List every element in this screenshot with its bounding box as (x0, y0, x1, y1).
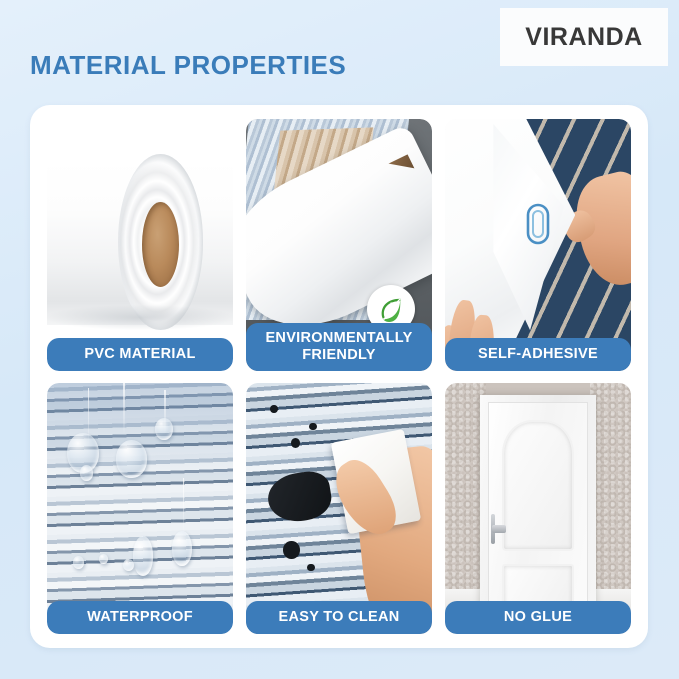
feature-card-self-adhesive[interactable]: SELF-ADHESIVE (445, 119, 631, 371)
water-streak (123, 383, 125, 433)
brand-logo: VIRANDA (500, 8, 668, 66)
water-drop (172, 531, 192, 566)
roll-cut-tip (388, 154, 415, 178)
water-streak (183, 478, 185, 533)
stain-spot (283, 541, 300, 559)
features-grid: PVC MATERIAL (47, 119, 631, 634)
door-panel-top (502, 420, 574, 551)
feature-card-easy-to-clean[interactable]: EASY TO CLEAN (246, 383, 432, 635)
page-title: MATERIAL PROPERTIES (30, 50, 346, 81)
roll-shadow (47, 305, 233, 330)
feature-card-environmentally-friendly[interactable]: ENVIRONMENTALLY FRIENDLY (246, 119, 432, 371)
brand-name: VIRANDA (525, 23, 642, 52)
self-adhesive-photo (445, 119, 631, 371)
water-drop (133, 536, 153, 576)
feature-card-pvc-material[interactable]: PVC MATERIAL (47, 119, 233, 371)
card-label-self-adhesive: SELF-ADHESIVE (445, 338, 631, 371)
features-panel: PVC MATERIAL (30, 105, 648, 648)
feature-card-waterproof[interactable]: WATERPROOF (47, 383, 233, 635)
pvc-roll-photo (47, 119, 233, 371)
stain-spot (307, 564, 314, 572)
easy-to-clean-photo (246, 383, 432, 635)
door-leaf (488, 402, 587, 622)
stain-spot (270, 405, 277, 413)
no-glue-photo (445, 383, 631, 635)
stain-spot (309, 423, 316, 431)
stain-spot (291, 438, 300, 448)
right-wall (590, 383, 631, 604)
paperclip-icon (525, 202, 551, 246)
water-drop (73, 556, 84, 569)
paperclip-badge (525, 202, 551, 251)
card-label-pvc-material: PVC MATERIAL (47, 338, 233, 371)
card-label-no-glue: NO GLUE (445, 601, 631, 634)
card-label-easy-to-clean: EASY TO CLEAN (246, 601, 432, 634)
door-frame (480, 395, 595, 621)
roll-cardboard-core (142, 202, 179, 288)
waterproof-photo (47, 383, 233, 635)
water-drop (116, 440, 148, 478)
leaf-icon (376, 294, 406, 324)
water-drop (80, 465, 93, 480)
card-label-waterproof: WATERPROOF (47, 601, 233, 634)
door-handle (492, 525, 506, 534)
page-header: MATERIAL PROPERTIES VIRANDA (0, 0, 679, 105)
water-drop (99, 554, 108, 564)
card-label-environmentally-friendly: ENVIRONMENTALLY FRIENDLY (246, 323, 432, 371)
feature-card-no-glue[interactable]: NO GLUE (445, 383, 631, 635)
